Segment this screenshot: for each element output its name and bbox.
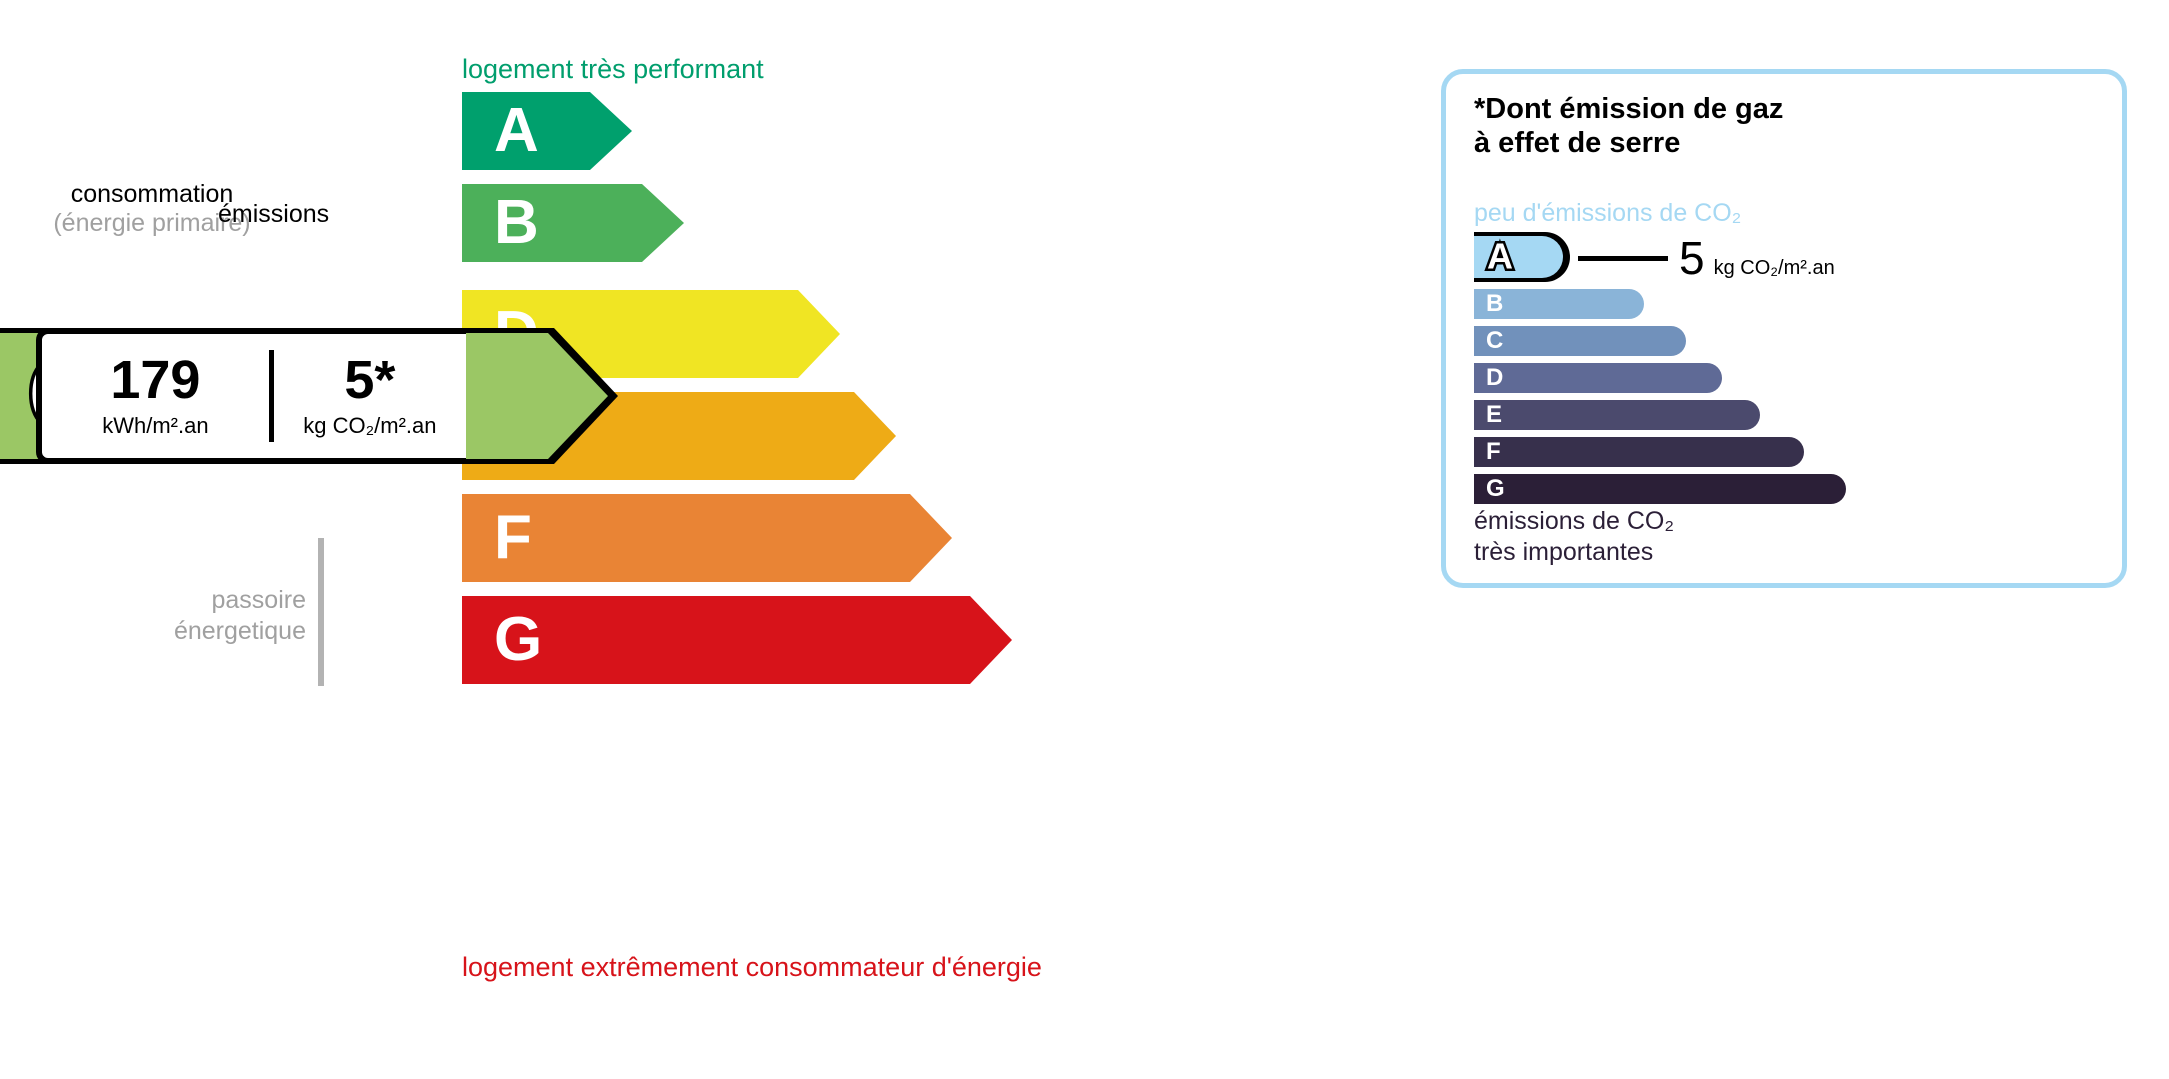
co2-grade-label-G: G bbox=[1486, 477, 1505, 501]
co2-value-unit: kg CO₂/m².an bbox=[1714, 257, 1835, 280]
energy-sieve-label: passoire énergetique bbox=[130, 585, 306, 648]
consumption-header-main: consommation bbox=[71, 180, 234, 208]
co2-selected-grade-label: A bbox=[1487, 238, 1513, 274]
co2-grade-label-E: E bbox=[1486, 403, 1502, 427]
co2-panel-title: *Dont émission de gaz à effet de serre bbox=[1474, 92, 1783, 160]
co2-bar-E: E bbox=[1474, 400, 1760, 430]
co2-selected-bar-A: A bbox=[1474, 232, 1570, 282]
co2-row-E: E bbox=[1474, 400, 1846, 430]
energy-arrow-G: G bbox=[462, 596, 1012, 684]
co2-leader-line bbox=[1578, 256, 1668, 261]
emissions-value: 5* bbox=[344, 353, 395, 407]
co2-grade-label-C: C bbox=[1486, 329, 1503, 353]
energy-grade-label-F: F bbox=[494, 507, 532, 569]
co2-row-D: D bbox=[1474, 363, 1846, 393]
co2-bar-G: G bbox=[1474, 474, 1846, 504]
co2-row-B: B bbox=[1474, 289, 1846, 319]
co2-row-G: G bbox=[1474, 474, 1846, 504]
energy-grade-label-A: A bbox=[494, 100, 539, 162]
emissions-unit: kg CO₂/m².an bbox=[303, 413, 436, 439]
energy-performance-panel: logement très performant A B D bbox=[0, 0, 1400, 1079]
energy-row-G: G bbox=[462, 596, 1342, 684]
energy-row-F: F bbox=[462, 494, 1342, 582]
co2-top-caption: peu d'émissions de CO₂ bbox=[1474, 199, 1741, 228]
co2-grade-label-B: B bbox=[1486, 292, 1503, 316]
energy-arrow-F: F bbox=[462, 494, 952, 582]
co2-bar-list: A 5 kg CO₂/m².an B C D bbox=[1474, 232, 1846, 511]
energy-grade-label-B: B bbox=[494, 192, 539, 254]
value-box: 179 kWh/m².an 5* kg CO₂/m².an bbox=[36, 328, 466, 464]
co2-bar-D: D bbox=[1474, 363, 1722, 393]
co2-value-number: 5 bbox=[1679, 235, 1705, 281]
co2-grade-label-F: F bbox=[1486, 440, 1501, 464]
emissions-header: émissions bbox=[218, 200, 329, 229]
dpe-diagram: logement très performant A B D bbox=[0, 0, 2169, 1079]
emissions-value-cell: 5* kg CO₂/m².an bbox=[274, 334, 466, 458]
co2-row-F: F bbox=[1474, 437, 1846, 467]
energy-grade-label-G: G bbox=[494, 609, 542, 671]
consumption-value-cell: 179 kWh/m².an bbox=[42, 334, 269, 458]
co2-row-A: A 5 kg CO₂/m².an bbox=[1474, 232, 1846, 282]
energy-row-A: A bbox=[462, 92, 1342, 170]
co2-bar-C: C bbox=[1474, 326, 1686, 356]
energy-arrow-B: B bbox=[462, 184, 684, 262]
co2-bar-F: F bbox=[1474, 437, 1804, 467]
energy-sieve-marker-bar bbox=[318, 538, 324, 686]
co2-value-callout: 5 kg CO₂/m².an bbox=[1679, 235, 1835, 281]
consumption-value: 179 bbox=[110, 353, 200, 407]
consumption-unit: kWh/m².an bbox=[102, 413, 208, 439]
energy-row-D: D bbox=[462, 290, 1342, 378]
energy-top-caption: logement très performant bbox=[462, 54, 764, 85]
co2-bar-B: B bbox=[1474, 289, 1644, 319]
co2-emissions-panel: *Dont émission de gaz à effet de serre p… bbox=[1441, 69, 2127, 588]
energy-row-B: B bbox=[462, 184, 1342, 262]
energy-bottom-caption: logement extrêmement consommateur d'éner… bbox=[462, 952, 1042, 983]
co2-grade-label-D: D bbox=[1486, 366, 1503, 390]
energy-arrow-A: A bbox=[462, 92, 632, 170]
co2-row-C: C bbox=[1474, 326, 1846, 356]
co2-bottom-caption: émissions de CO₂ très importantes bbox=[1474, 506, 1674, 567]
